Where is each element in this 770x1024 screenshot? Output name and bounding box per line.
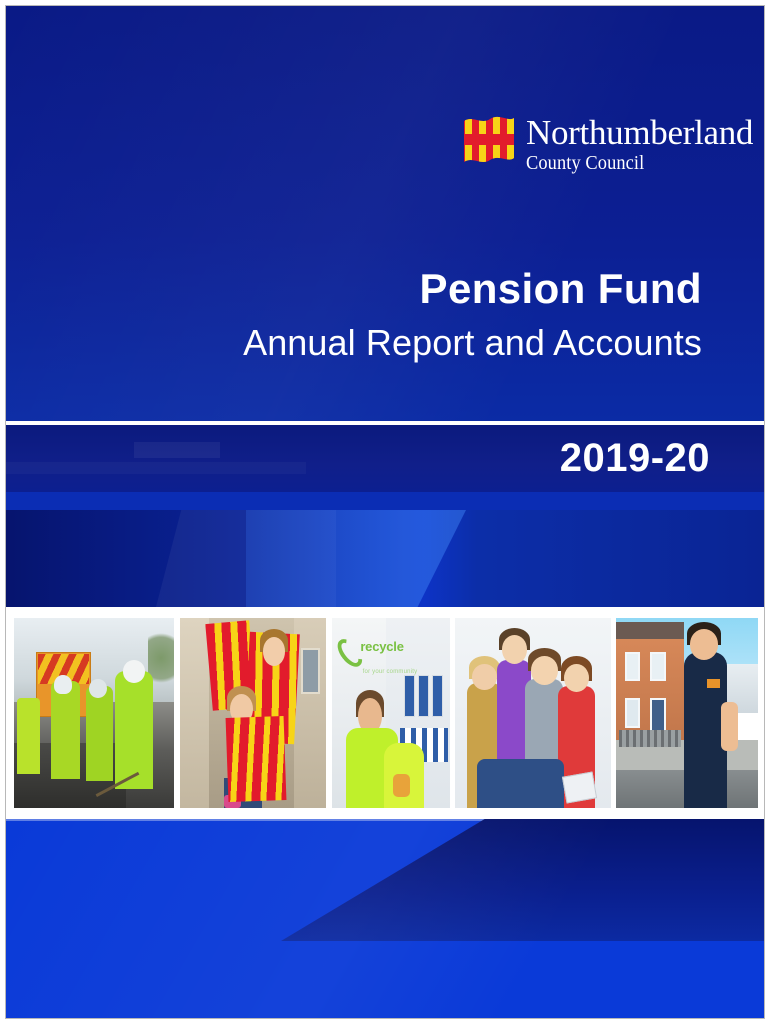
photo-children-county-flag	[180, 618, 326, 808]
photo-road-maintenance-image	[14, 618, 174, 808]
recycle-logo-text: recycle	[360, 639, 403, 654]
photo-road-maintenance	[14, 618, 174, 808]
photo-recycling: recycle for your community	[332, 618, 450, 808]
photo-recycling-image: recycle for your community	[332, 618, 450, 808]
year-band-highlight-a	[134, 442, 220, 458]
cover-title: Pension Fund	[243, 264, 702, 314]
photo-strip: recycle for your community	[6, 607, 765, 819]
photo-young-people	[455, 618, 611, 808]
bottom-band-sheen	[6, 819, 765, 1019]
hero-banner: Northumberland County Council Pension Fu…	[6, 6, 765, 421]
cover-page: Northumberland County Council Pension Fu…	[0, 0, 770, 1024]
photo-young-people-image	[455, 618, 611, 808]
mid-decorative-band	[6, 492, 765, 607]
logo-wordmark: Northumberland County Council	[526, 114, 753, 174]
northumberland-flag-icon	[461, 114, 517, 172]
logo-subname: County Council	[526, 152, 735, 174]
year-band: 2019-20	[6, 425, 765, 492]
cover-subtitle: Annual Report and Accounts	[243, 320, 702, 366]
bottom-decorative-band	[6, 819, 765, 1019]
year-band-highlight-b	[6, 462, 306, 474]
cover-title-group: Pension Fund Annual Report and Accounts	[243, 264, 702, 366]
council-logo: Northumberland County Council	[461, 114, 753, 174]
cover-year: 2019-20	[560, 433, 710, 483]
mid-band-top-strip	[6, 492, 765, 510]
logo-name: Northumberland	[526, 115, 753, 151]
photo-housing-officer-image	[616, 618, 758, 808]
photo-children-county-flag-image	[180, 618, 326, 808]
photo-housing-officer	[616, 618, 758, 808]
recycle-logo-subtext: for your community	[363, 669, 418, 675]
page-frame: Northumberland County Council Pension Fu…	[5, 5, 765, 1019]
